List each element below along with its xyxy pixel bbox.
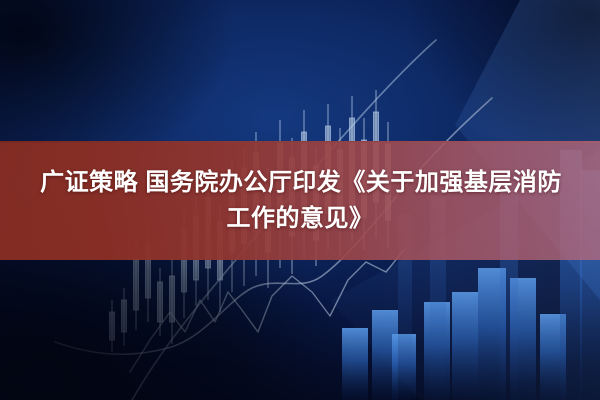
banner-title-block: 广证策略 国务院办公厅印发《关于加强基层消防 工作的意见》	[0, 141, 600, 260]
promo-banner-image: 广证策略 国务院办公厅印发《关于加强基层消防 工作的意见》	[0, 0, 600, 400]
banner-title-line-1: 广证策略 国务院办公厅印发《关于加强基层消防	[38, 167, 562, 199]
banner-title-line-2: 工作的意见》	[227, 203, 374, 235]
